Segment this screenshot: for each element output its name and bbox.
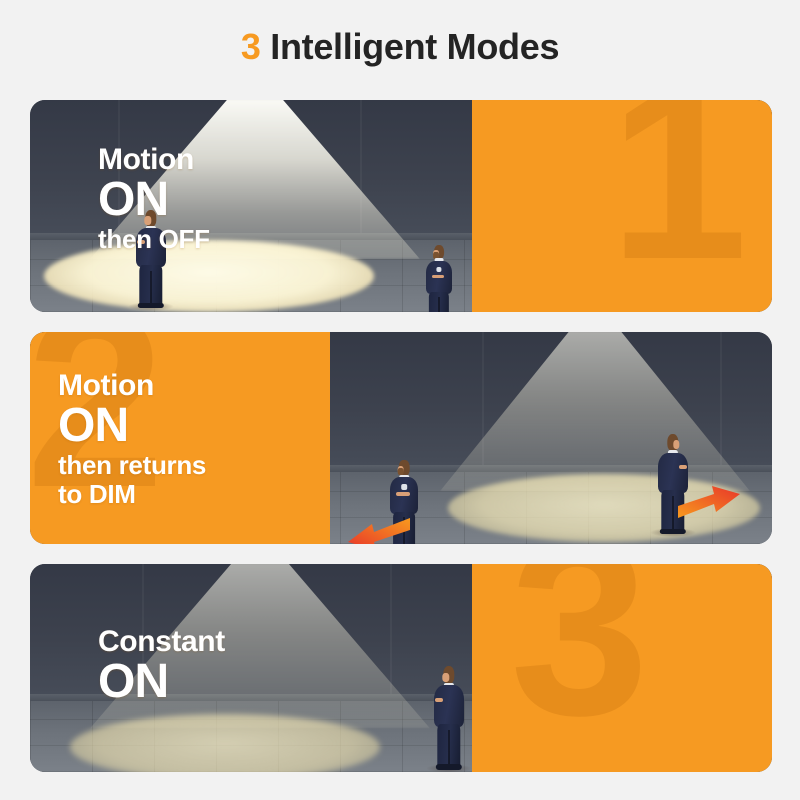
mode-1-line-1: Motion [98, 144, 210, 176]
mode-2-line-4: to DIM [58, 480, 206, 509]
figure-shirt [401, 484, 407, 489]
figure-leg-gap [448, 730, 450, 765]
figure-shirt [436, 267, 441, 272]
mode-3-line-1: Constant [98, 626, 225, 658]
figure-shoes [138, 303, 164, 308]
wall-seam [360, 100, 362, 240]
figure-arm [679, 465, 687, 469]
figure-crossed-arms [432, 275, 444, 278]
watermark-number-1: 1 [609, 100, 748, 269]
title-count: 3 [241, 26, 261, 67]
mode-2-line-3: then returns [58, 451, 206, 480]
figure-shoes [660, 529, 686, 535]
figure-person-at-edge [434, 666, 464, 770]
figure-arm [435, 698, 443, 702]
mode-panel-2[interactable]: 2 Motion ON then returns to DIM [30, 332, 772, 544]
figure-leg-gap [438, 297, 440, 312]
arrow-left-icon [348, 516, 410, 544]
mode-2-line-2: ON [58, 402, 206, 451]
figure-face [442, 673, 449, 682]
figure-torso [426, 261, 452, 295]
mode-3-line-2: ON [98, 658, 225, 707]
watermark-number-3: 3 [510, 564, 649, 725]
figure-head [434, 245, 444, 259]
mode-panel-1[interactable]: 1 Motion ON then OFF [30, 100, 772, 312]
title-text: Intelligent Modes [261, 26, 560, 67]
figure-head [443, 666, 454, 684]
mode-1-text-block: 1 [472, 100, 772, 312]
figure-torso [434, 685, 464, 727]
figure-torso [390, 477, 418, 514]
mode-2-label: Motion ON then returns to DIM [58, 370, 206, 509]
mode-3-label: Constant ON [98, 626, 225, 707]
figure-head [667, 434, 678, 451]
mode-panel-3[interactable]: 3 Constant ON [30, 564, 772, 772]
arrow-right-up-icon [678, 486, 740, 520]
figure-face [673, 440, 680, 449]
wall-seam [482, 332, 484, 472]
wall-seam [720, 332, 722, 472]
page-title: 3 Intelligent Modes [0, 26, 800, 68]
mode-3-text-block: 3 [472, 564, 772, 772]
figure-crossed-arms [396, 492, 409, 496]
figure-head [399, 460, 410, 476]
mode-1-line-3: then OFF [98, 225, 210, 254]
figure-leg-gap [150, 271, 152, 304]
mode-1-label: Motion ON then OFF [98, 144, 210, 254]
figure-person-outside-light [426, 245, 452, 312]
figure-shoes [436, 764, 462, 770]
wall-seam [390, 564, 392, 701]
mode-1-line-2: ON [98, 176, 210, 225]
mode-2-line-1: Motion [58, 370, 206, 402]
figure-leg-gap [672, 496, 674, 530]
